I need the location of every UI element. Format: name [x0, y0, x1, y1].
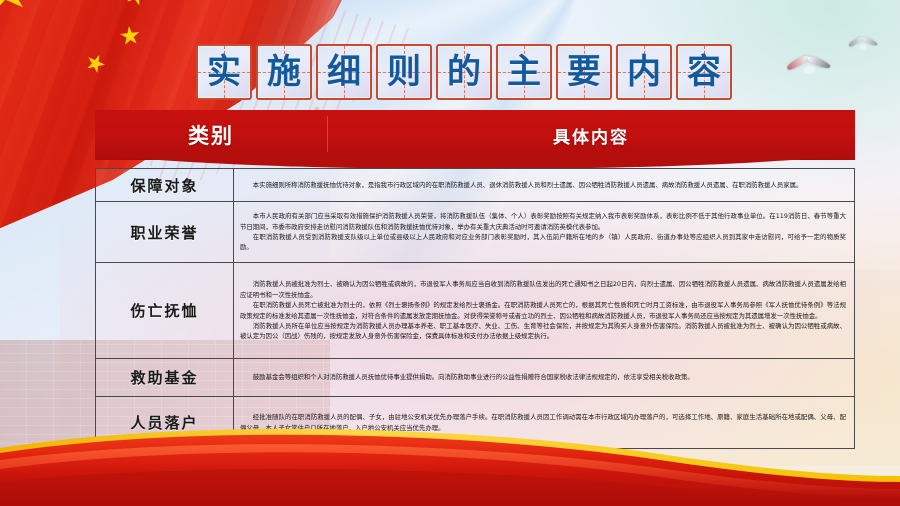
title-char-2: 施: [267, 55, 301, 89]
dove-icon-right: [848, 38, 878, 56]
title-char-box-8: 内: [616, 44, 672, 100]
table-row: 保障对象 本实施细则所称消防救援抚恤优待对象，是指我市行政区域内的在职消防救援人…: [96, 169, 855, 202]
title-char-box-2: 施: [256, 44, 312, 100]
title-char-9: 容: [687, 55, 721, 89]
title-char-box-3: 细: [316, 44, 372, 100]
row-2-paragraph-2: 在职消防救援人员受到消防救援支队级以上单位或县级以上人民政府和对应业务部门表彰奖…: [240, 232, 846, 253]
row-4-paragraph-1: 鼓励基金会等组织和个人对消防救援人员抚恤优待事业提供捐助。向消防救助事业进行的公…: [240, 372, 846, 382]
dove-icon-left: [786, 57, 832, 83]
title-char-6: 主: [507, 55, 541, 89]
title-char-box-1: 实: [196, 44, 252, 100]
title-char-7: 要: [567, 55, 601, 89]
row-content-2: 本市人民政府有关部门应当采取有效措施保护消防救援人员荣誉，将消防救援队伍（集体、…: [234, 202, 855, 263]
title-char-4: 则: [387, 55, 421, 89]
title-char-box-6: 主: [496, 44, 552, 100]
content-table: 保障对象 本实施细则所称消防救援抚恤优待对象，是指我市行政区域内的在职消防救援人…: [95, 168, 855, 449]
row-3-paragraph-3: 消防救援人员所在单位应当按规定为消防救援人员办理基本养老、职工基本医疗、失业、工…: [240, 321, 846, 342]
row-1-paragraph-1: 本实施细则所称消防救援抚恤优待对象，是指我市行政区域内的在职消防救援人员、退休消…: [240, 180, 846, 190]
title-char-box-5: 的: [436, 44, 492, 100]
row-category-2: 职业荣誉: [96, 202, 234, 263]
title-char-box-4: 则: [376, 44, 432, 100]
title-char-8: 内: [627, 55, 661, 89]
row-3-paragraph-1: 消防救援人员被批准为烈士、被确认为因公牺牲或病故的，市退役军人事务局应当自收到消…: [240, 279, 846, 300]
row-category-4: 救助基金: [96, 359, 234, 397]
slide-root: 实 施 细 则 的 主 要 内 容 类别 具体内容 保障对象 本实施细则所称消防…: [0, 0, 900, 506]
title-char-box-9: 容: [676, 44, 732, 100]
title-char-1: 实: [207, 55, 241, 89]
row-category-1: 保障对象: [96, 169, 234, 202]
dove-body: [859, 44, 867, 50]
title-char-3: 细: [327, 55, 361, 89]
title-char-box-7: 要: [556, 44, 612, 100]
title-char-5: 的: [447, 55, 481, 89]
row-content-1: 本实施细则所称消防救援抚恤优待对象，是指我市行政区域内的在职消防救援人员、退休消…: [234, 169, 855, 202]
row-category-3: 伤亡抚恤: [96, 263, 234, 359]
row-2-paragraph-1: 本市人民政府有关部门应当采取有效措施保护消防救援人员荣誉，将消防救援队伍（集体、…: [240, 211, 846, 232]
row-3-paragraph-2: 在职消防救援人员死亡被批准为烈士的，依照《烈士褒扬条例》的规定发给烈士褒扬金。在…: [240, 300, 846, 321]
row-content-3: 消防救援人员被批准为烈士、被确认为因公牺牲或病故的，市退役军人事务局应当自收到消…: [234, 263, 855, 359]
table-row: 救助基金 鼓励基金会等组织和个人对消防救援人员抚恤优待事业提供捐助。向消防救助事…: [96, 359, 855, 397]
dove-body: [803, 66, 815, 74]
bottom-ribbon-decoration: [0, 420, 900, 506]
table-row: 伤亡抚恤 消防救援人员被批准为烈士、被确认为因公牺牲或病故的，市退役军人事务局应…: [96, 263, 855, 359]
table-row: 职业荣誉 本市人民政府有关部门应当采取有效措施保护消防救援人员荣誉，将消防救援队…: [96, 202, 855, 263]
row-content-4: 鼓励基金会等组织和个人对消防救援人员抚恤优待事业提供捐助。向消防救助事业进行的公…: [234, 359, 855, 397]
page-title: 实 施 细 则 的 主 要 内 容: [196, 44, 732, 100]
